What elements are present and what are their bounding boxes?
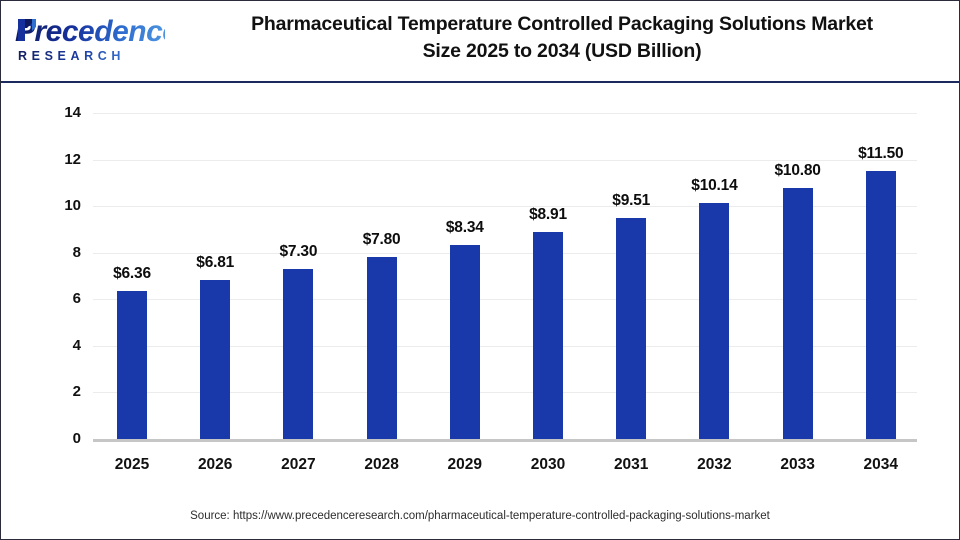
chart-title: Pharmaceutical Temperature Controlled Pa… xyxy=(177,11,947,65)
x-axis-tick-label-2031: 2031 xyxy=(586,456,676,473)
bar-value-label-2027: $7.30 xyxy=(253,244,343,260)
x-axis-tick-label-2030: 2030 xyxy=(503,456,593,473)
x-axis-tick-label-2029: 2029 xyxy=(420,456,510,473)
gridline xyxy=(93,160,917,161)
y-axis-tick-label: 2 xyxy=(35,384,81,399)
x-axis-tick-label-2026: 2026 xyxy=(170,456,260,473)
chart-header: Precedence RESEARCH Pharmaceutical Tempe… xyxy=(1,1,959,81)
y-axis-tick-label: 0 xyxy=(35,431,81,446)
bar-2026 xyxy=(200,280,230,439)
chart-title-line1: Pharmaceutical Temperature Controlled Pa… xyxy=(177,11,947,38)
gridline xyxy=(93,113,917,114)
bar-value-label-2028: $7.80 xyxy=(337,232,427,248)
bar-2029 xyxy=(450,245,480,439)
bar-2033 xyxy=(783,188,813,439)
precedence-arrow-mark-icon xyxy=(16,17,38,43)
bar-value-label-2034: $11.50 xyxy=(836,146,926,162)
bar-value-label-2029: $8.34 xyxy=(420,220,510,236)
bar-2031 xyxy=(616,218,646,439)
bar-value-label-2031: $9.51 xyxy=(586,193,676,209)
bar-2027 xyxy=(283,269,313,439)
bar-2030 xyxy=(533,232,563,439)
bar-2028 xyxy=(367,257,397,439)
bar-2025 xyxy=(117,291,147,439)
bar-value-label-2033: $10.80 xyxy=(753,163,843,179)
y-axis-tick-label: 14 xyxy=(35,105,81,120)
x-axis-tick-label-2028: 2028 xyxy=(337,456,427,473)
x-axis-tick-label-2034: 2034 xyxy=(836,456,926,473)
bar-value-label-2030: $8.91 xyxy=(503,207,593,223)
x-axis-tick-label-2027: 2027 xyxy=(253,456,343,473)
x-axis-tick-label-2032: 2032 xyxy=(669,456,759,473)
source-caption: Source: https://www.precedenceresearch.c… xyxy=(1,509,959,523)
y-axis-tick-label: 8 xyxy=(35,245,81,260)
bar-value-label-2025: $6.36 xyxy=(87,266,177,282)
x-axis-tick-label-2025: 2025 xyxy=(87,456,177,473)
x-axis-line xyxy=(93,439,917,442)
precedence-research-logo: Precedence RESEARCH xyxy=(15,13,165,69)
x-axis-tick-label-2033: 2033 xyxy=(753,456,843,473)
logo-subtext: RESEARCH xyxy=(18,49,168,63)
bar-2032 xyxy=(699,203,729,439)
chart-image-frame: Precedence RESEARCH Pharmaceutical Tempe… xyxy=(0,0,960,540)
bar-value-label-2032: $10.14 xyxy=(669,178,759,194)
bar-value-label-2026: $6.81 xyxy=(170,255,260,271)
chart-title-line2: Size 2025 to 2034 (USD Billion) xyxy=(177,38,947,65)
bar-2034 xyxy=(866,171,896,439)
chart-plot-area: 02468101214 $6.36$6.81$7.30$7.80$8.34$8.… xyxy=(1,83,959,539)
y-axis-tick-label: 4 xyxy=(35,338,81,353)
y-axis-tick-label: 12 xyxy=(35,152,81,167)
y-axis-tick-label: 6 xyxy=(35,291,81,306)
y-axis-tick-label: 10 xyxy=(35,198,81,213)
